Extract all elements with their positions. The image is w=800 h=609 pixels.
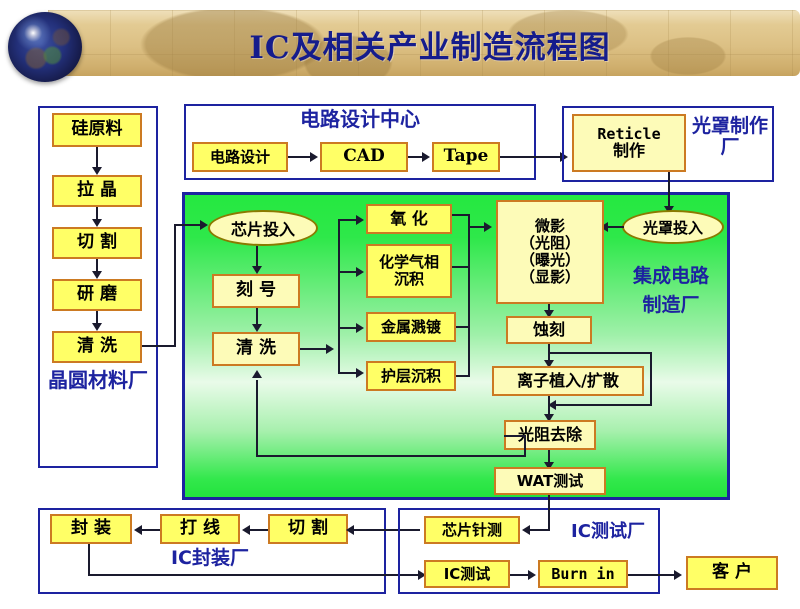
arrow-right-oxidation [356,215,364,225]
box-wat[interactable]: WAT测试 [494,467,606,495]
arrow-right-cad [310,152,318,162]
connector-fabclean-bus [300,348,328,350]
converge-oxidation [452,214,470,216]
cvd-line2: 沉积 [394,271,424,288]
box-wafer-probe[interactable]: 芯片针测 [424,516,520,544]
arrow-right-bus [326,344,334,354]
arrow-right-burnin [528,570,536,580]
feedback-strip-tap [504,435,526,437]
title-banner: IC及相关产业制造流程图 [0,6,800,80]
box-oxidation[interactable]: 氧 化 [366,204,452,234]
connector-maskin-litho [608,226,624,228]
box-passivation[interactable]: 护层沉积 [366,361,456,391]
fab-label-line1: 集成电路 [612,262,730,291]
arrow-right-customer [674,570,682,580]
arrow-right-chip-in [200,220,208,230]
arrow-right-into-litho [484,222,492,232]
connector-waferin-mark [256,246,258,268]
fab-region-label: 集成电路 制造厂 [612,262,730,319]
arrow-right-tape [422,152,430,162]
test-plant-label: IC测试厂 [556,522,660,542]
bypass-implant-top [548,352,652,354]
arrow-down-slice [92,219,102,227]
connector-tape-reticle [500,156,562,158]
converge-passivation [456,375,470,377]
litho-line4: （显影） [520,269,580,286]
connector-clean-to-fab-v [174,224,176,347]
test-plant-label-text: IC测试厂 [571,521,645,542]
connector-design-cad [288,156,312,158]
connector-clean-to-fab-h2 [174,224,202,226]
arrow-right-cvd [356,267,364,277]
box-dicing[interactable]: 切 割 [268,514,348,544]
fab-label-line2: 制造厂 [612,291,730,320]
mask-plant-label: 光罩制作厂 [690,116,770,159]
cvd-line1: 化学气相 [379,254,439,271]
arrow-up-feedback [252,370,262,378]
page-title: IC及相关产业制造流程图 [60,18,800,70]
arrow-down-clean [92,323,102,331]
arrow-down-mark [252,266,262,274]
box-wafer-clean[interactable]: 清 洗 [52,331,142,363]
box-sputter[interactable]: 金属溅镀 [366,312,456,342]
box-slice[interactable]: 切 割 [52,227,142,259]
arrow-left-dicing [346,525,354,535]
box-etch[interactable]: 蚀刻 [506,316,592,344]
arrow-right-sputter [356,323,364,333]
arrow-down-crystal [92,167,102,175]
wafer-plant-label-text: 晶圆材料厂 [48,368,148,392]
box-crystal-pull[interactable]: 拉 晶 [52,175,142,207]
connector-packaging-to-ictest [88,574,420,576]
ellipse-wafer-in[interactable]: 芯片投入 [208,210,318,246]
box-mark[interactable]: 刻 号 [212,274,300,308]
box-fab-clean[interactable]: 清 洗 [212,332,300,366]
converge-bus-vertical [468,214,470,376]
converge-sputter [456,326,470,328]
design-center-label: 电路设计中心 [190,108,530,130]
litho-line2: （光阻） [520,235,580,252]
connector-wirebond-packaging [142,529,160,531]
connector-clean-to-fab-h1 [142,345,176,347]
arrow-right-passivation [356,368,364,378]
package-plant-label: IC封装厂 [120,548,300,569]
connector-wat-to-probe [530,529,550,531]
box-cvd[interactable]: 化学气相 沉积 [366,244,452,298]
connector-bus-cvd [338,271,358,273]
connector-packaging-down [88,544,90,576]
connector-implant-strip [548,396,550,416]
box-reticle[interactable]: Reticle 制作 [572,114,686,172]
box-implant[interactable]: 离子植入/扩散 [492,366,644,396]
box-wire-bond[interactable]: 打 线 [160,514,240,544]
litho-line3: （曝光） [520,252,580,269]
ellipse-mask-in[interactable]: 光罩投入 [622,210,724,244]
wafer-plant-label: 晶圆材料厂 [40,369,156,391]
box-tape[interactable]: Tape [432,142,500,172]
design-center-label-text: 电路设计中心 [300,107,420,131]
connector-silicon-crystal [96,147,98,169]
box-customer[interactable]: 客 户 [686,556,778,590]
connector-bus-sputter [338,327,358,329]
connector-reticle-maskin [668,172,670,210]
feedback-left-up [256,380,258,457]
connector-bus-oxidation [338,219,358,221]
mask-plant-label-text: 光罩制作厂 [692,115,768,158]
connector-wat-down [548,495,550,529]
box-litho[interactable]: 微影 （光阻） （曝光） （显影） [496,200,604,304]
feedback-right-down [524,435,526,457]
arrow-down-fabclean [252,324,262,332]
connector-dicing-wirebond [250,529,268,531]
box-ic-test[interactable]: IC测试 [424,560,510,588]
box-circuit-design[interactable]: 电路设计 [192,142,288,172]
connector-burnin-customer [628,574,676,576]
arrow-down-grind [92,271,102,279]
reticle-line2: 制作 [613,142,645,160]
reticle-line1: Reticle [597,126,660,143]
package-plant-label-text: IC封装厂 [171,547,249,569]
box-cad[interactable]: CAD [320,142,408,172]
litho-line1: 微影 [535,218,565,235]
arrow-left-packaging [134,525,142,535]
connector-ictest-burnin [510,574,530,576]
bypass-implant-right [650,352,652,406]
arrow-left-wirebond [242,525,250,535]
box-grind[interactable]: 研 磨 [52,279,142,311]
converge-cvd [452,266,470,268]
feedback-bottom-line [256,455,526,457]
bypass-implant-bottom [554,404,652,406]
process-bus-vertical [338,219,340,372]
box-packaging[interactable]: 封 装 [50,514,132,544]
box-silicon[interactable]: 硅原料 [52,113,142,147]
arrow-left-probe [522,525,530,535]
connector-bus-passivation [338,372,358,374]
box-burn-in[interactable]: Burn in [538,560,628,588]
